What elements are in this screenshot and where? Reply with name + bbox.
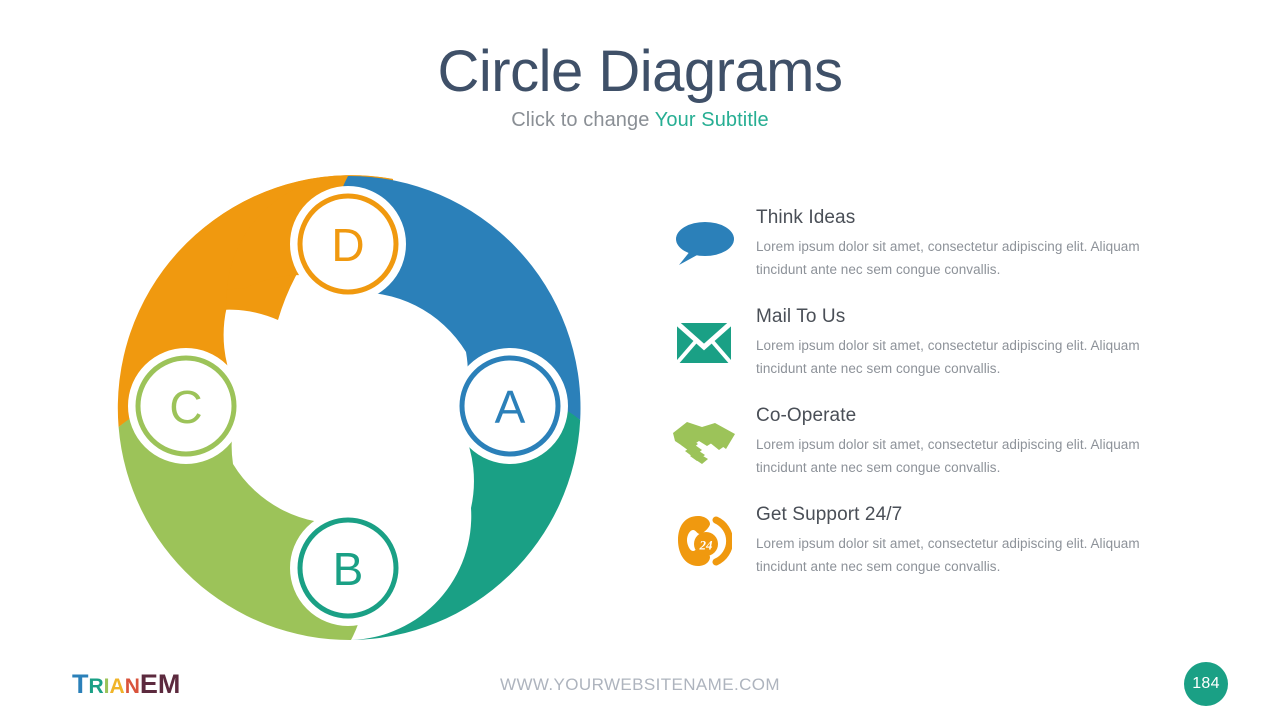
phone-support-icon: 24 (668, 511, 740, 571)
diagram-center-hole (256, 314, 444, 502)
support-badge-text: 24 (699, 538, 714, 553)
circle-diagram: D A B C (110, 168, 590, 648)
feature-body: Lorem ipsum dolor sit amet, consectetur … (756, 235, 1148, 281)
feature-body: Lorem ipsum dolor sit amet, consectetur … (756, 334, 1148, 380)
handshake-icon (668, 412, 740, 472)
feature-body: Lorem ipsum dolor sit amet, consectetur … (756, 532, 1148, 578)
badge-letter-b: B (333, 543, 364, 595)
speech-bubble-icon (668, 214, 740, 274)
diagram-badge-b[interactable]: B (296, 516, 400, 620)
slide-header: Circle Diagrams Click to change Your Sub… (0, 42, 1280, 132)
slide: Circle Diagrams Click to change Your Sub… (0, 0, 1280, 720)
website-url[interactable]: WWW.YOURWEBSITENAME.COM (0, 675, 1280, 695)
feature-item-get-support[interactable]: 24 Get Support 24/7 Lorem ipsum dolor si… (660, 503, 1160, 579)
feature-title: Co-Operate (756, 404, 1160, 428)
badge-letter-d: D (331, 219, 364, 271)
subtitle-accent: Your Subtitle (655, 109, 769, 131)
feature-item-co-operate[interactable]: Co-Operate Lorem ipsum dolor sit amet, c… (660, 404, 1160, 480)
feature-item-think-ideas[interactable]: Think Ideas Lorem ipsum dolor sit amet, … (660, 206, 1160, 282)
feature-item-mail-to-us[interactable]: Mail To Us Lorem ipsum dolor sit amet, c… (660, 305, 1160, 381)
diagram-badge-c[interactable]: C (134, 354, 238, 458)
feature-list: Think Ideas Lorem ipsum dolor sit amet, … (660, 206, 1160, 579)
feature-title: Get Support 24/7 (756, 503, 1160, 527)
feature-title: Mail To Us (756, 305, 1160, 329)
diagram-badge-a[interactable]: A (458, 354, 562, 458)
feature-title: Think Ideas (756, 206, 1160, 230)
feature-body: Lorem ipsum dolor sit amet, consectetur … (756, 433, 1148, 479)
page-number-badge: 184 (1184, 662, 1228, 706)
badge-letter-a: A (495, 381, 526, 433)
envelope-icon (668, 313, 740, 373)
diagram-badge-d[interactable]: D (296, 192, 400, 296)
page-subtitle[interactable]: Click to change Your Subtitle (0, 109, 1280, 132)
subtitle-prefix: Click to change (511, 109, 655, 131)
badge-letter-c: C (169, 381, 202, 433)
page-title: Circle Diagrams (0, 42, 1280, 103)
